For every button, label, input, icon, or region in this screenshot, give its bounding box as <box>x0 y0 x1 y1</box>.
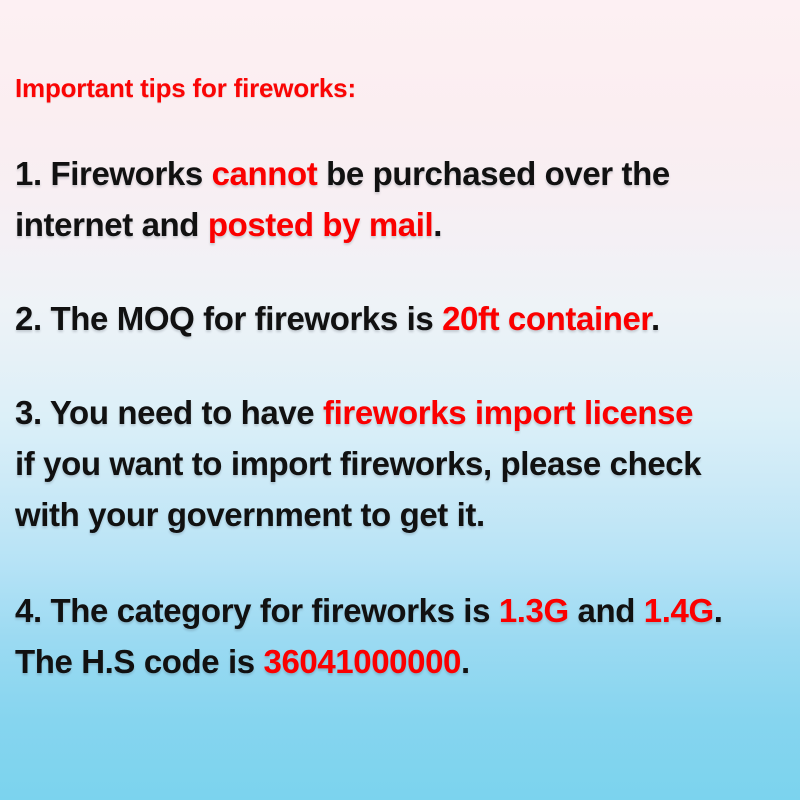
tip-item-3: 3. You need to have fireworks import lic… <box>15 344 790 540</box>
tip-4-text-c: and <box>569 592 644 629</box>
tip-4-line-2: The H.S code is 36041000000. <box>15 636 790 687</box>
tip-1-text-a: 1. Fireworks <box>15 155 212 192</box>
tip-2-text-a: 2. The MOQ for fireworks is <box>15 300 442 337</box>
fireworks-tips-poster: Important tips for fireworks: 1. Firewor… <box>0 0 800 800</box>
tip-4-highlight-hs-code: 36041000000 <box>264 643 461 680</box>
tip-4-highlight-class-13g: 1.3G <box>499 592 569 629</box>
tip-1-line-2: internet and posted by mail. <box>15 199 790 250</box>
tip-1-highlight-posted-by-mail: posted by mail <box>208 206 433 243</box>
tip-3-line-1: 3. You need to have fireworks import lic… <box>15 387 790 438</box>
poster-heading: Important tips for fireworks: <box>15 0 790 104</box>
tip-4-text-f: The H.S code is <box>15 643 264 680</box>
tip-item-4: 4. The category for fireworks is 1.3G an… <box>15 540 790 687</box>
tip-item-2: 2. The MOQ for fireworks is 20ft contain… <box>15 250 790 344</box>
tip-4-highlight-class-14g: 1.4G <box>644 592 714 629</box>
tip-1-text-d: internet and <box>15 206 208 243</box>
tip-2-highlight-moq: 20ft container <box>442 300 651 337</box>
tip-2-line-1: 2. The MOQ for fireworks is 20ft contain… <box>15 293 790 344</box>
tip-3-line-2: if you want to import fireworks, please … <box>15 438 790 489</box>
tip-2-text-c: . <box>651 300 660 337</box>
tip-4-text-a: 4. The category for fireworks is <box>15 592 499 629</box>
tip-item-1: 1. Fireworks cannot be purchased over th… <box>15 104 790 250</box>
tip-1-line-1: 1. Fireworks cannot be purchased over th… <box>15 148 790 199</box>
tip-1-text-c: be purchased over the <box>317 155 669 192</box>
tip-4-line-1: 4. The category for fireworks is 1.3G an… <box>15 585 790 636</box>
poster-content: Important tips for fireworks: 1. Firewor… <box>15 0 790 687</box>
tip-3-line-3: with your government to get it. <box>15 489 790 540</box>
tip-3-highlight-import-license: fireworks import license <box>323 394 693 431</box>
tip-4-text-h: . <box>461 643 470 680</box>
tip-1-highlight-cannot: cannot <box>212 155 318 192</box>
tip-1-text-f: . <box>433 206 442 243</box>
tip-4-text-e: . <box>714 592 723 629</box>
tip-3-text-a: 3. You need to have <box>15 394 323 431</box>
